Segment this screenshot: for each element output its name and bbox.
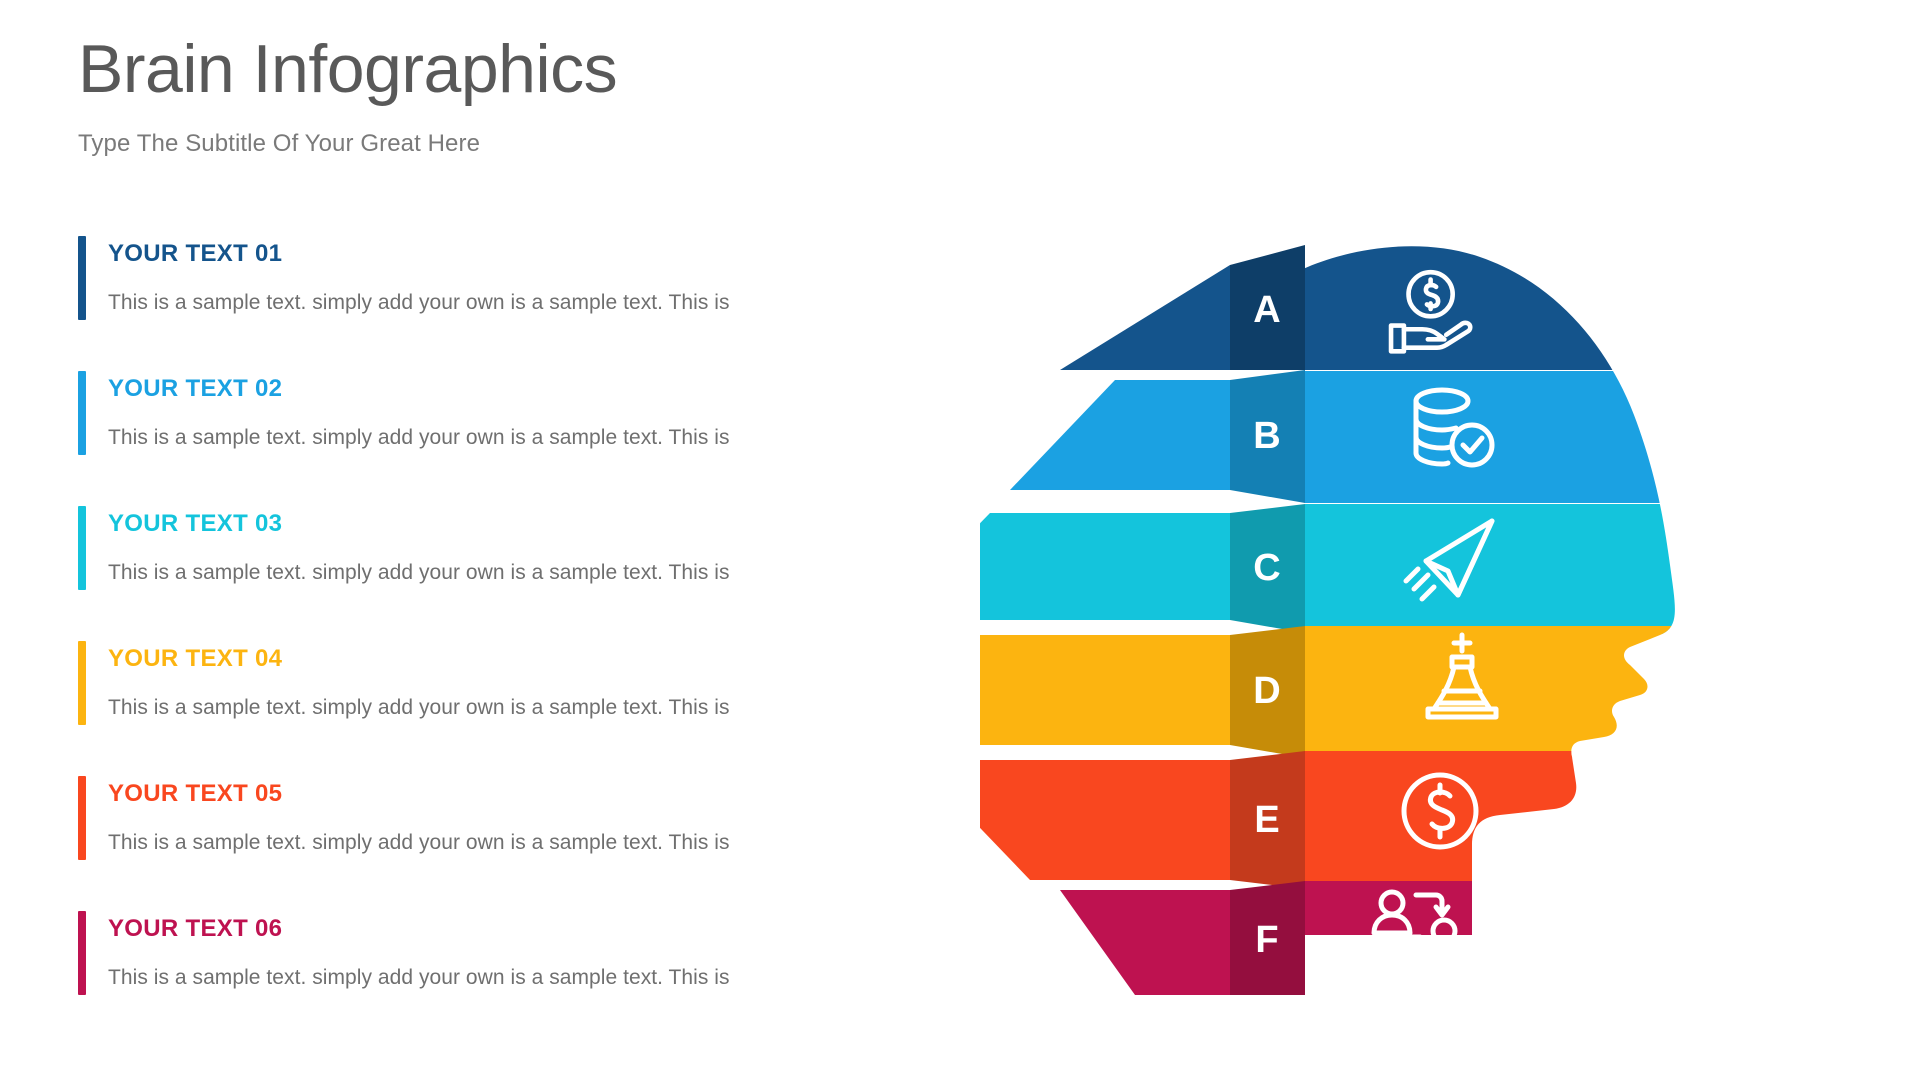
list-item[interactable]: YOUR TEXT 04 This is a sample text. simp… xyxy=(78,637,838,772)
band-letter-c: C xyxy=(1253,547,1280,589)
accent-bar-06 xyxy=(78,911,86,995)
brain-band-c[interactable]: C xyxy=(980,504,1880,634)
accent-bar-04 xyxy=(78,641,86,725)
list-item[interactable]: YOUR TEXT 01 This is a sample text. simp… xyxy=(78,232,838,367)
text-list: YOUR TEXT 01 This is a sample text. simp… xyxy=(78,232,838,1042)
brain-band-f[interactable]: F xyxy=(1060,881,1880,995)
accent-bar-03 xyxy=(78,506,86,590)
band-tail-b xyxy=(1010,380,1230,490)
list-item-title: YOUR TEXT 02 xyxy=(108,367,838,401)
header: Brain Infographics Type The Subtitle Of … xyxy=(78,30,617,158)
band-letter-d: D xyxy=(1253,670,1280,712)
band-tail-c xyxy=(980,513,1230,620)
brain-band-b[interactable]: B xyxy=(1010,370,1880,503)
brain-head-diagram: A B xyxy=(980,235,1880,995)
list-item[interactable]: YOUR TEXT 03 This is a sample text. simp… xyxy=(78,502,838,637)
list-item-title: YOUR TEXT 04 xyxy=(108,637,838,671)
band-tail-d xyxy=(980,635,1230,745)
list-item[interactable]: YOUR TEXT 05 This is a sample text. simp… xyxy=(78,772,838,907)
brain-band-a[interactable]: A xyxy=(1060,235,1880,370)
list-item-body: This is a sample text. simply add your o… xyxy=(108,694,838,722)
band-slice-d xyxy=(1305,626,1880,758)
list-item[interactable]: YOUR TEXT 02 This is a sample text. simp… xyxy=(78,367,838,502)
accent-bar-01 xyxy=(78,236,86,320)
band-letter-f: F xyxy=(1255,919,1278,961)
list-item-body: This is a sample text. simply add your o… xyxy=(108,964,838,992)
slide-canvas: Brain Infographics Type The Subtitle Of … xyxy=(0,0,1920,1080)
band-slice-e xyxy=(1305,751,1880,889)
band-letter-b: B xyxy=(1253,415,1280,457)
brain-band-e[interactable]: E xyxy=(980,751,1880,889)
page-title: Brain Infographics xyxy=(78,30,617,108)
band-tail-f xyxy=(1060,890,1230,995)
list-item-title: YOUR TEXT 03 xyxy=(108,502,838,536)
accent-bar-05 xyxy=(78,776,86,860)
band-letter-a: A xyxy=(1253,289,1280,331)
brain-band-d[interactable]: D xyxy=(980,626,1880,758)
list-item-body: This is a sample text. simply add your o… xyxy=(108,424,838,452)
page-subtitle: Type The Subtitle Of Your Great Here xyxy=(78,130,617,158)
list-item-title: YOUR TEXT 05 xyxy=(108,772,838,806)
list-item-body: This is a sample text. simply add your o… xyxy=(108,559,838,587)
list-item-title: YOUR TEXT 06 xyxy=(108,907,838,941)
accent-bar-02 xyxy=(78,371,86,455)
band-tail-a xyxy=(1060,265,1230,370)
list-item-body: This is a sample text. simply add your o… xyxy=(108,289,838,317)
band-slice-b xyxy=(1305,371,1880,503)
band-letter-e: E xyxy=(1254,799,1279,841)
band-slice-c xyxy=(1305,504,1880,634)
list-item-title: YOUR TEXT 01 xyxy=(108,232,838,266)
band-tail-e xyxy=(980,760,1230,880)
band-slice-f xyxy=(1305,881,1880,995)
list-item-body: This is a sample text. simply add your o… xyxy=(108,829,838,857)
list-item[interactable]: YOUR TEXT 06 This is a sample text. simp… xyxy=(78,907,838,1042)
